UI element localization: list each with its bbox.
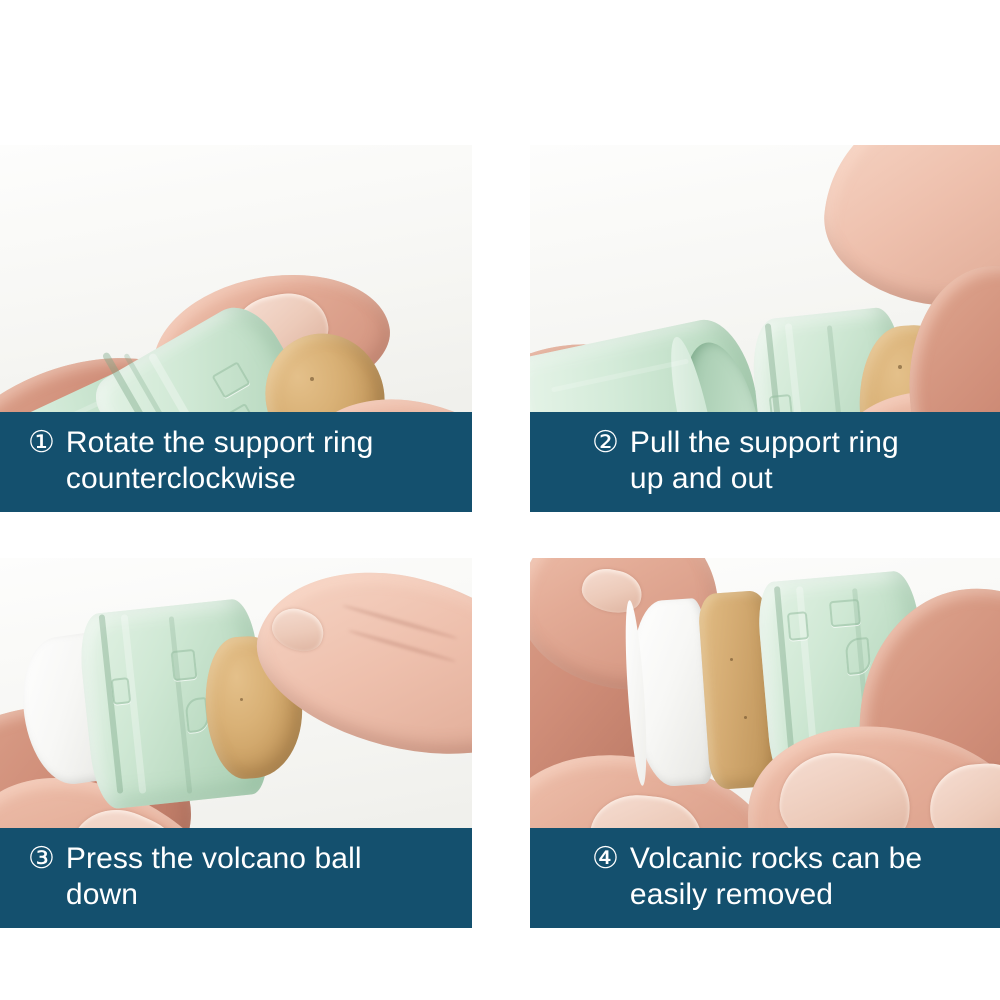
stone-speck-1 (730, 658, 733, 661)
stone-speck-1 (898, 365, 902, 369)
instruction-page: ① Rotate the support ring counterclockwi… (0, 0, 1000, 1000)
step-4-number: ④ (592, 841, 619, 877)
step-1-caption: ① Rotate the support ring counterclockwi… (0, 412, 472, 512)
stone-speck-1 (310, 377, 314, 381)
step-2-text: Pull the support ring up and out (630, 425, 899, 497)
ring-emboss-mark-1 (111, 677, 132, 705)
step-4-caption: ④ Volcanic rocks can be easily removed (530, 828, 1000, 928)
ring-emboss-mark-2 (170, 649, 197, 681)
ring-emboss-mark-2 (829, 599, 861, 628)
step-3-caption: ③ Press the volcano ball down (0, 828, 472, 928)
ring-emboss-mark-1 (787, 611, 809, 641)
stone-speck-2 (744, 716, 747, 719)
step-panel-3: ③ Press the volcano ball down (0, 558, 472, 928)
step-4-text: Volcanic rocks can be easily removed (630, 841, 922, 913)
stone-speck-1 (240, 698, 243, 701)
step-3-number: ③ (28, 841, 55, 877)
step-panel-1: ① Rotate the support ring counterclockwi… (0, 145, 472, 512)
step-2-number: ② (592, 425, 619, 461)
step-2-caption: ② Pull the support ring up and out (530, 412, 1000, 512)
step-panel-4: ④ Volcanic rocks can be easily removed (530, 558, 1000, 928)
step-panel-2: ② Pull the support ring up and out (530, 145, 1000, 512)
step-1-text: Rotate the support ring counterclockwise (66, 425, 374, 497)
step-3-text: Press the volcano ball down (66, 841, 362, 913)
steps-grid: ① Rotate the support ring counterclockwi… (0, 145, 1000, 928)
step-1-number: ① (28, 425, 55, 461)
